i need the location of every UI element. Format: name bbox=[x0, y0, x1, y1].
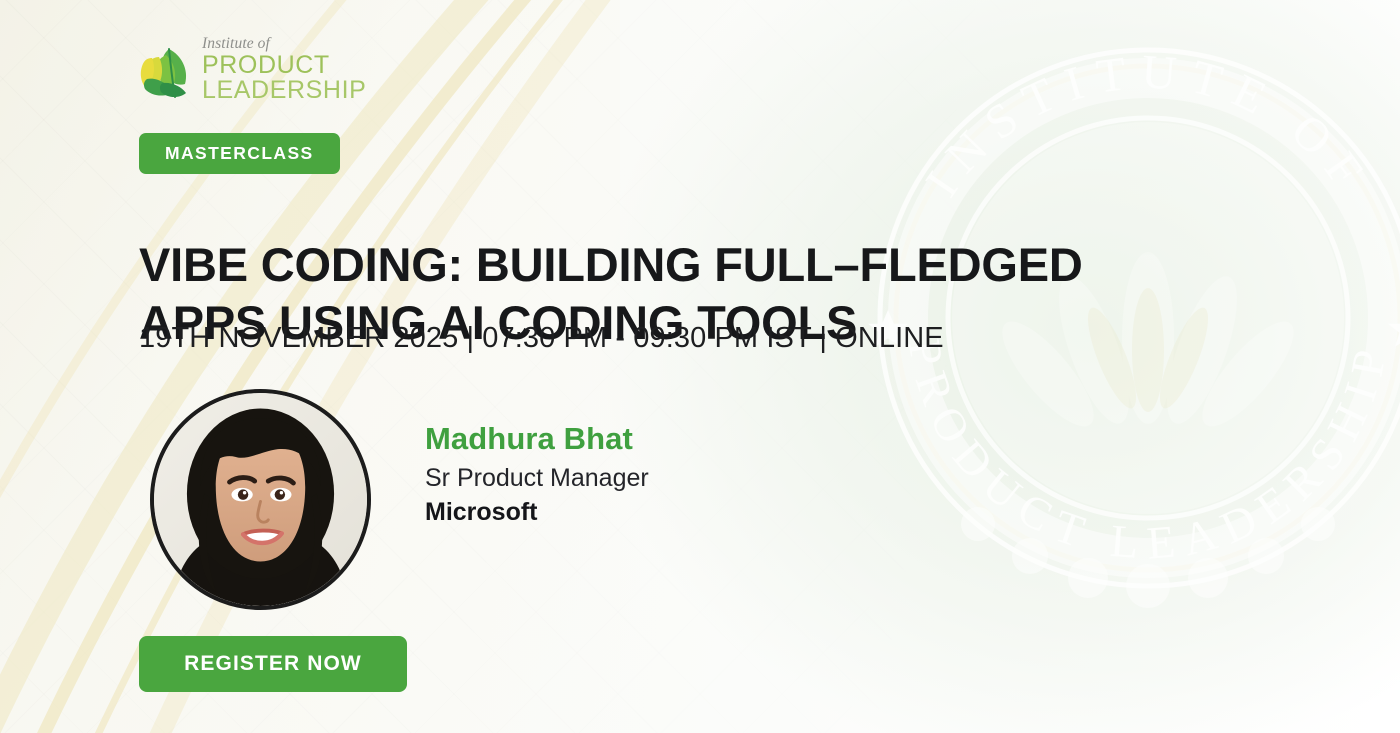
register-now-button[interactable]: REGISTER NOW bbox=[139, 636, 407, 692]
masterclass-badge-label: MASTERCLASS bbox=[165, 143, 314, 164]
logo-product-text: PRODUCT bbox=[202, 53, 366, 79]
speaker-company: Microsoft bbox=[425, 498, 649, 528]
logo-leadership-text: LEADERSHIP bbox=[202, 78, 366, 104]
event-details: 19TH NOVEMBER 2025 | 07:30 PM - 09:30 PM… bbox=[139, 322, 944, 355]
masterclass-badge: MASTERCLASS bbox=[139, 133, 340, 174]
webinar-promo-banner: INSTITUTE OF PRODUCT LEADERSHIP bbox=[0, 0, 1400, 733]
speaker-role: Sr Product Manager bbox=[425, 464, 649, 494]
speaker-name: Madhura Bhat bbox=[425, 421, 649, 458]
leaf-lotus-icon bbox=[139, 39, 193, 101]
speaker-info: Madhura Bhat Sr Product Manager Microsof… bbox=[425, 421, 649, 528]
speaker-headshot-illustration bbox=[154, 393, 367, 606]
logo-institute-text: Institute of bbox=[202, 36, 366, 52]
brand-logo[interactable]: Institute of PRODUCT LEADERSHIP bbox=[139, 36, 366, 104]
event-title-line-1: VIBE CODING: BUILDING FULL–FLEDGED bbox=[139, 236, 1219, 294]
register-now-label: REGISTER NOW bbox=[184, 652, 362, 676]
speaker-avatar bbox=[150, 389, 371, 610]
